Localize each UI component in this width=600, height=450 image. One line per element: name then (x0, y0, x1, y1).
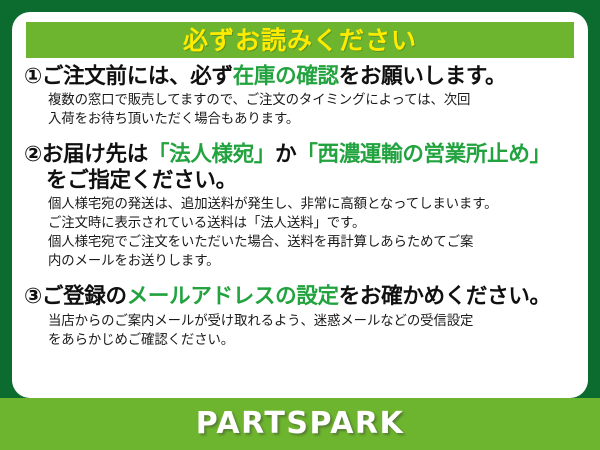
notice-item-1-body: 複数の窓口で販売してますので、ご注文のタイミングによっては、次回 入荷をお待ち頂… (24, 91, 578, 129)
notice-item-2-heading-line-2: をご指定ください。 (24, 168, 578, 193)
notice-item-2-heading-accent-1: 「法人様宛」 (148, 142, 275, 167)
page-title: 必ずお読みください (183, 28, 417, 53)
notice-item-2-body: 個人様宅宛の発送は、追加送料が発生し、非常に高額となってしまいます。 ご注文時に… (24, 195, 578, 271)
notice-item-2-marker: ② (24, 142, 42, 167)
notice-item-1-heading: ①ご注文前には、必ず在庫の確認をお願いします。 (24, 64, 578, 89)
notice-item-3-body-line-1: 当店からのご案内メールが受け取れるよう、迷惑メールなどの受信設定 (48, 312, 578, 331)
notice-item-2-body-line-3: 個人様宅宛でご注文をいただいた場合、送料を再計算しあらためてご案 (48, 233, 578, 252)
notice-item-2: ②お届け先は「法人様宛」か「西濃運輸の営業所止め」 をご指定ください。 個人様宅… (12, 142, 588, 271)
notice-item-3-marker: ③ (24, 284, 42, 309)
notice-item-3-heading-part-3: をお確かめください。 (339, 284, 551, 309)
notice-item-1-heading-part-3: をお願いします。 (339, 64, 506, 89)
brand-name: PARTSPARK (196, 409, 405, 439)
notice-item-2-body-line-2: ご注文時に表示されている送料は「法人送料」です。 (48, 214, 578, 233)
notice-item-1-heading-part-1: ご注文前には、必ず (42, 64, 233, 89)
notice-card: 必ずお読みください ①ご注文前には、必ず在庫の確認をお願いします。 複数の窓口で… (0, 0, 600, 450)
notice-item-1: ①ご注文前には、必ず在庫の確認をお願いします。 複数の窓口で販売してますので、ご… (12, 64, 588, 129)
notice-item-3-body: 当店からのご案内メールが受け取れるよう、迷惑メールなどの受信設定 をあらかじめご… (24, 312, 578, 350)
notice-item-2-body-line-4: 内のメールをお送りします。 (48, 252, 578, 271)
notice-item-3-heading-accent: メールアドレスの設定 (127, 284, 339, 309)
notice-item-1-body-line-2: 入荷をお待ち頂いただく場合もあります。 (48, 110, 578, 129)
notice-title-band: 必ずお読みください (26, 22, 574, 58)
notice-item-2-heading-accent-2: 「西濃運輸の営業所止め」 (296, 142, 550, 167)
notice-item-3-body-line-2: をあらかじめご確認ください。 (48, 331, 578, 350)
brand-footer-band: PARTSPARK (0, 398, 600, 450)
notice-item-2-heading-part-3: か (275, 142, 296, 167)
notice-item-1-heading-accent: 在庫の確認 (233, 64, 339, 89)
notice-panel: 必ずお読みください ①ご注文前には、必ず在庫の確認をお願いします。 複数の窓口で… (12, 12, 588, 398)
notice-item-3-heading-part-1: ご登録の (42, 284, 127, 309)
notice-item-1-body-line-1: 複数の窓口で販売してますので、ご注文のタイミングによっては、次回 (48, 91, 578, 110)
notice-item-3: ③ご登録のメールアドレスの設定をお確かめください。 当店からのご案内メールが受け… (12, 284, 588, 349)
notice-item-1-marker: ① (24, 64, 42, 89)
notice-items-list: ①ご注文前には、必ず在庫の確認をお願いします。 複数の窓口で販売してますので、ご… (12, 64, 588, 350)
notice-item-2-heading: ②お届け先は「法人様宛」か「西濃運輸の営業所止め」 (24, 142, 578, 167)
notice-item-2-heading-part-1: お届け先は (42, 142, 148, 167)
notice-item-2-body-line-1: 個人様宅宛の発送は、追加送料が発生し、非常に高額となってしまいます。 (48, 195, 578, 214)
notice-item-3-heading: ③ご登録のメールアドレスの設定をお確かめください。 (24, 284, 578, 309)
